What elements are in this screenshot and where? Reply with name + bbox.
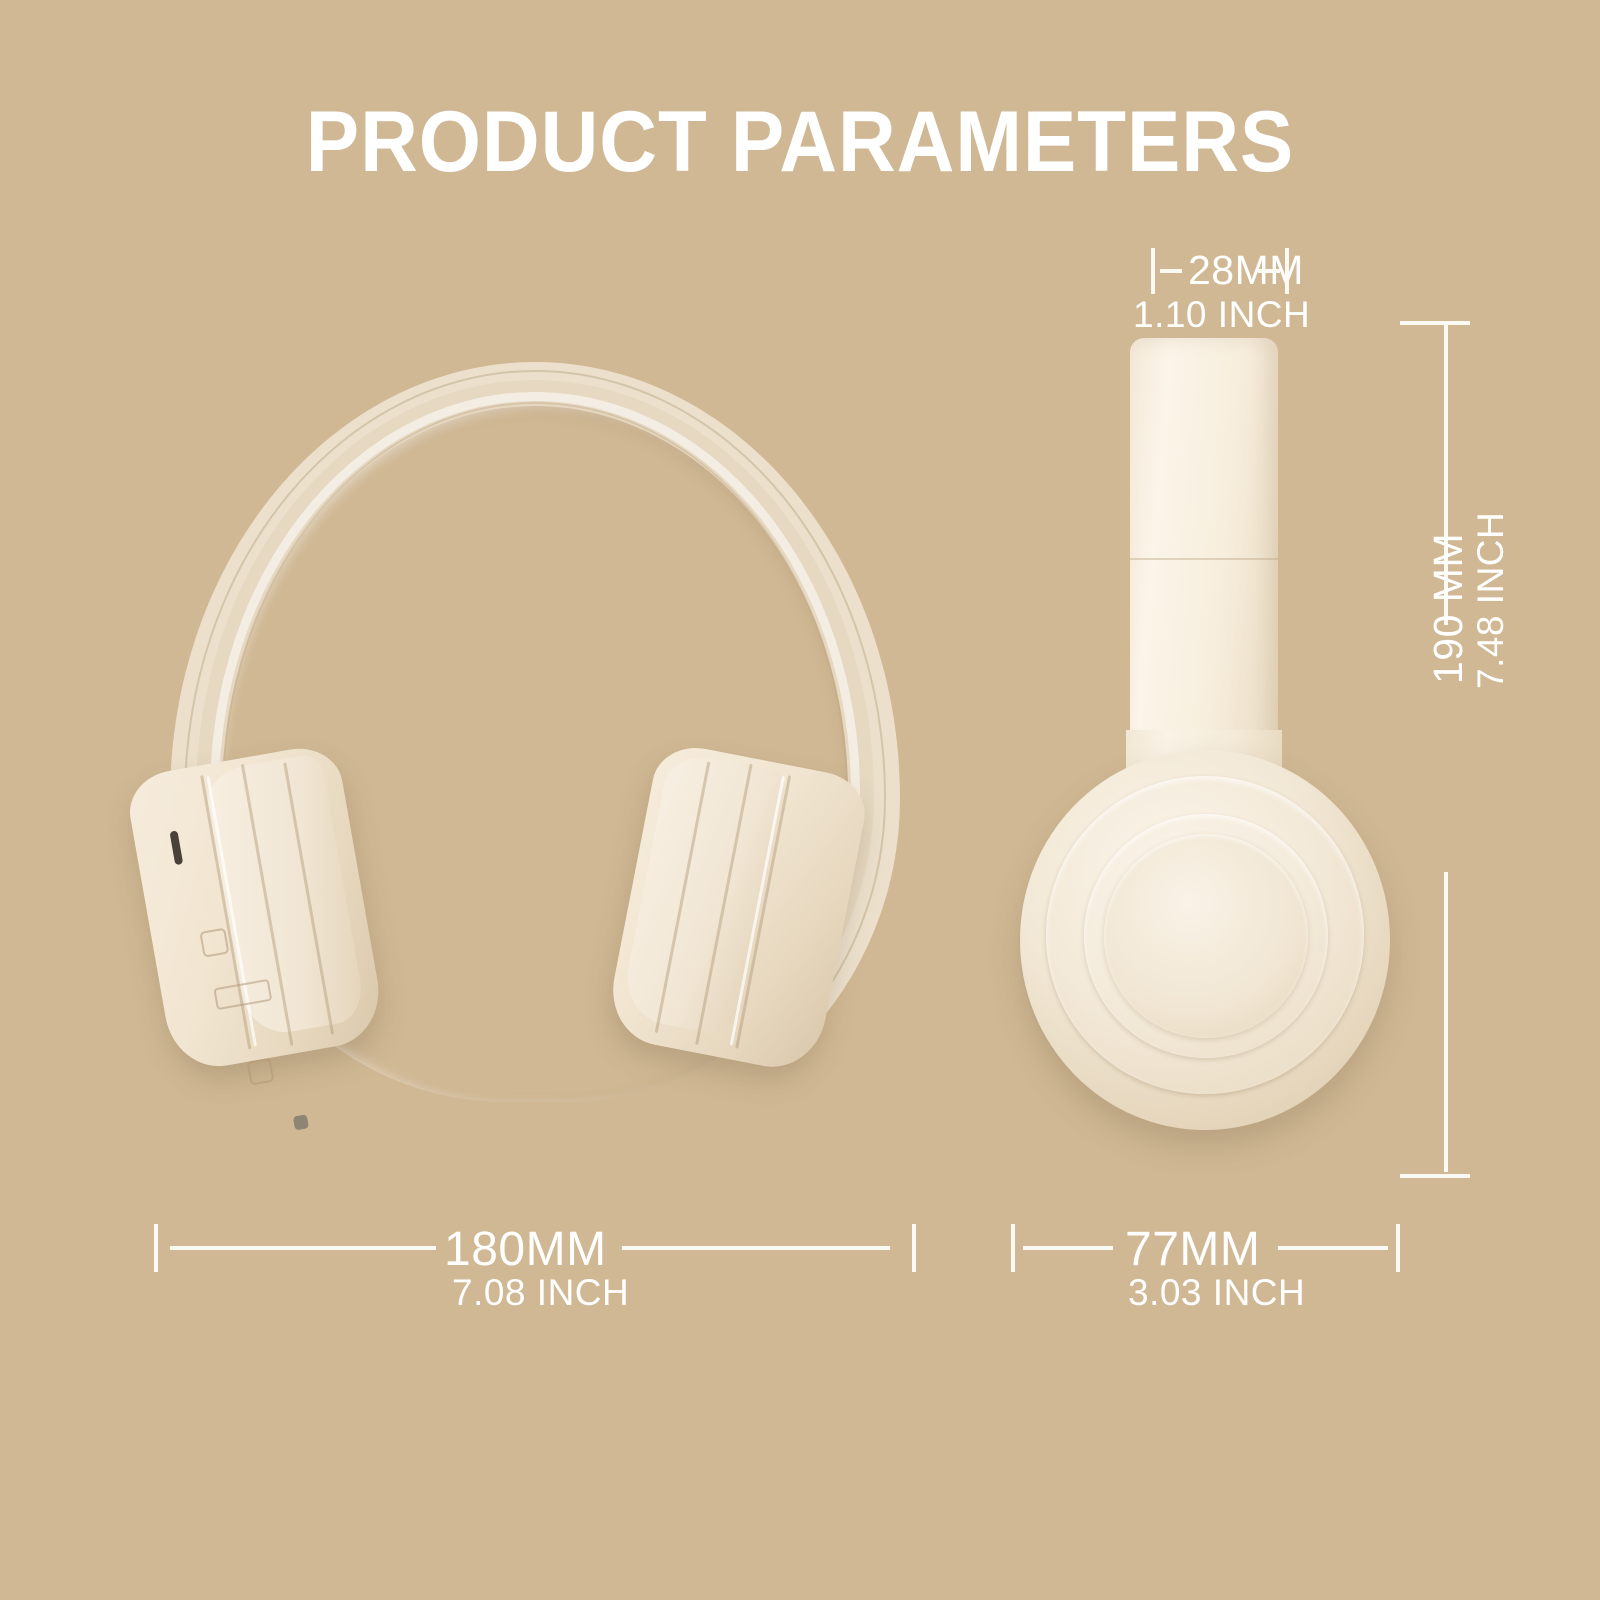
thickness-inch-label: 1.10 INCH (1133, 294, 1310, 336)
height-mm-label: 190 MM (1425, 640, 1472, 684)
headphones-front-view-image (130, 340, 940, 1200)
width-tick-right (912, 1224, 916, 1272)
thickness-tick-right (1285, 248, 1289, 294)
height-inch-label: 7.48 INCH (1470, 645, 1512, 689)
side-earcup-center-disc (1104, 834, 1308, 1038)
depth-tick-right (1396, 1224, 1400, 1272)
width-line-left (170, 1246, 436, 1250)
headphones-side-view-image (1000, 330, 1400, 1190)
thickness-tick-left (1151, 248, 1155, 294)
depth-tick-left (1011, 1224, 1015, 1272)
side-headband (1130, 338, 1278, 758)
width-inch-label: 7.08 INCH (452, 1272, 629, 1314)
thickness-dash-right (1258, 269, 1280, 273)
width-mm-label: 180MM (444, 1222, 607, 1277)
width-tick-left (154, 1224, 158, 1272)
depth-inch-label: 3.03 INCH (1128, 1272, 1305, 1314)
side-headband-seam (1130, 558, 1278, 560)
page-title: PRODUCT PARAMETERS (56, 93, 1544, 192)
depth-mm-label: 77MM (1125, 1222, 1260, 1277)
height-cap-top (1400, 321, 1470, 325)
microsd-slot (293, 1114, 309, 1130)
aux-jack (247, 1058, 275, 1086)
power-button (199, 928, 229, 958)
depth-line-right (1278, 1246, 1388, 1250)
product-parameters-infographic: PRODUCT PARAMETERS (0, 0, 1600, 1600)
height-line-lower (1444, 872, 1448, 1172)
thickness-dash-left (1160, 269, 1182, 273)
width-line-right (622, 1246, 890, 1250)
microphone-slot (169, 830, 183, 865)
height-cap-bottom (1400, 1174, 1470, 1178)
depth-line-left (1023, 1246, 1113, 1250)
